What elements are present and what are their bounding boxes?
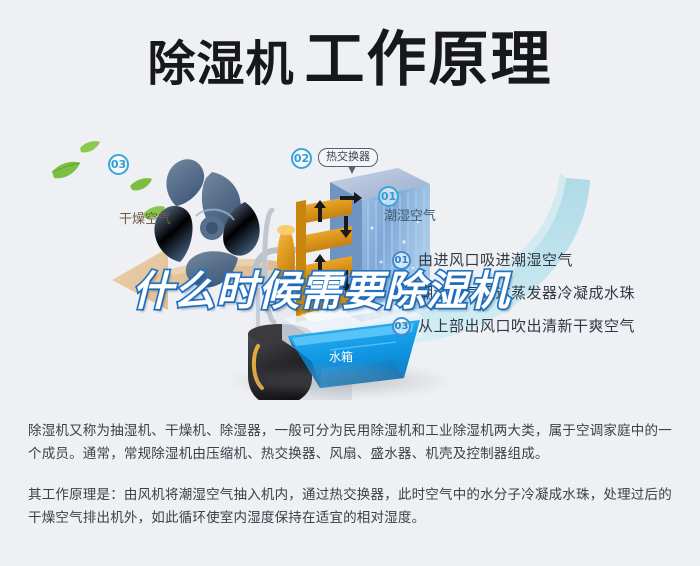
legend-item: 03 从上部出风口吹出清新干爽空气 [392,314,692,347]
diagram-badge-02: 02 [291,148,312,169]
page-root: 除湿机工作原理 [0,0,700,566]
body-paragraph-2: 其工作原理是：由风机将潮湿空气抽入机内，通过热交换器，此时空气中的水分子冷凝成水… [28,484,676,530]
diagram-badge-01: 01 [378,186,399,207]
callout-leader-arrow [348,166,356,174]
page-title-part-1: 除湿机 [147,40,294,88]
legend-text-03: 从上部出风口吹出清新干爽空气 [418,316,635,336]
diagram-badge-03: 03 [108,154,129,175]
heat-exchanger-callout: 热交换器 [318,148,378,167]
legend-badge-03: 03 [392,317,411,336]
page-title: 除湿机工作原理 [0,30,700,90]
dry-air-label: 干燥空气 [119,213,171,227]
green-leaves [52,141,165,218]
water-tank-label: 水箱 [329,350,353,364]
body-paragraph-1: 除湿机又称为抽湿机、干燥机、除湿器，一般可分为民用除湿机和工业除湿机两大类，属于… [28,420,676,466]
humid-air-label: 潮湿空气 [384,210,436,224]
machine-floor-shadow [232,365,447,397]
overlay-headline: 什么时候需要除湿机 [132,268,592,314]
page-title-part-2: 工作原理 [305,30,553,90]
